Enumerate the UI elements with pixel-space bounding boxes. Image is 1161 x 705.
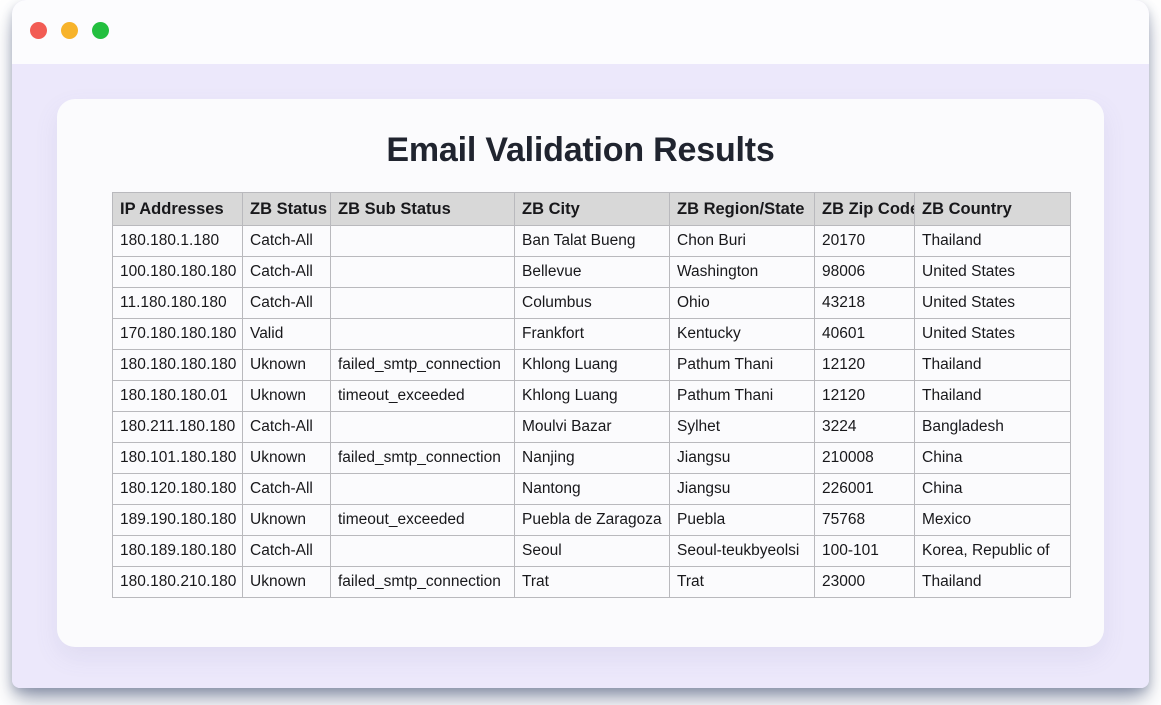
minimize-window-icon[interactable] <box>61 22 78 39</box>
table-row: 180.211.180.180Catch-AllMoulvi BazarSylh… <box>113 412 1071 443</box>
table-row: 180.180.180.01Uknowntimeout_exceededKhlo… <box>113 381 1071 412</box>
cell-ip-address: 180.180.210.180 <box>113 567 243 598</box>
cell-zb-region-state: Kentucky <box>670 319 815 350</box>
cell-zb-zip-code: 43218 <box>815 288 915 319</box>
cell-zb-region-state: Chon Buri <box>670 226 815 257</box>
cell-zb-sub-status <box>331 474 515 505</box>
cell-ip-address: 170.180.180.180 <box>113 319 243 350</box>
cell-zb-zip-code: 210008 <box>815 443 915 474</box>
table-row: 180.180.180.180Uknownfailed_smtp_connect… <box>113 350 1071 381</box>
cell-zb-zip-code: 20170 <box>815 226 915 257</box>
cell-zb-sub-status: timeout_exceeded <box>331 505 515 536</box>
cell-zb-city: Nantong <box>515 474 670 505</box>
column-header-zb-country: ZB Country <box>915 193 1071 226</box>
cell-zb-country: United States <box>915 319 1071 350</box>
cell-zb-region-state: Sylhet <box>670 412 815 443</box>
table-row: 180.189.180.180Catch-AllSeoulSeoul-teukb… <box>113 536 1071 567</box>
cell-zb-zip-code: 98006 <box>815 257 915 288</box>
cell-zb-city: Puebla de Zaragoza <box>515 505 670 536</box>
cell-zb-region-state: Jiangsu <box>670 443 815 474</box>
results-card: Email Validation Results IP Addresses ZB… <box>57 99 1104 647</box>
column-header-zb-sub-status: ZB Sub Status <box>331 193 515 226</box>
cell-zb-country: United States <box>915 257 1071 288</box>
cell-zb-city: Khlong Luang <box>515 350 670 381</box>
cell-zb-status: Catch-All <box>243 257 331 288</box>
cell-ip-address: 180.211.180.180 <box>113 412 243 443</box>
cell-zb-country: Korea, Republic of <box>915 536 1071 567</box>
cell-zb-region-state: Pathum Thani <box>670 381 815 412</box>
cell-zb-city: Nanjing <box>515 443 670 474</box>
column-header-zb-status: ZB Status <box>243 193 331 226</box>
cell-zb-city: Bellevue <box>515 257 670 288</box>
table-row: 180.101.180.180Uknownfailed_smtp_connect… <box>113 443 1071 474</box>
table-row: 180.120.180.180Catch-AllNantongJiangsu22… <box>113 474 1071 505</box>
cell-zb-sub-status <box>331 412 515 443</box>
cell-zb-zip-code: 75768 <box>815 505 915 536</box>
cell-zb-country: Thailand <box>915 381 1071 412</box>
cell-zb-city: Moulvi Bazar <box>515 412 670 443</box>
cell-zb-status: Catch-All <box>243 474 331 505</box>
cell-zb-status: Uknown <box>243 443 331 474</box>
cell-zb-zip-code: 226001 <box>815 474 915 505</box>
cell-zb-country: China <box>915 443 1071 474</box>
cell-zb-sub-status <box>331 319 515 350</box>
cell-zb-city: Frankfort <box>515 319 670 350</box>
cell-ip-address: 189.190.180.180 <box>113 505 243 536</box>
cell-zb-status: Uknown <box>243 350 331 381</box>
cell-ip-address: 180.180.180.180 <box>113 350 243 381</box>
cell-zb-sub-status: timeout_exceeded <box>331 381 515 412</box>
table-row: 170.180.180.180ValidFrankfortKentucky406… <box>113 319 1071 350</box>
table-row: 180.180.210.180Uknownfailed_smtp_connect… <box>113 567 1071 598</box>
cell-zb-zip-code: 12120 <box>815 381 915 412</box>
cell-zb-sub-status <box>331 536 515 567</box>
cell-ip-address: 11.180.180.180 <box>113 288 243 319</box>
table-row: 189.190.180.180Uknowntimeout_exceededPue… <box>113 505 1071 536</box>
column-header-ip-addresses: IP Addresses <box>113 193 243 226</box>
cell-zb-country: Thailand <box>915 567 1071 598</box>
close-window-icon[interactable] <box>30 22 47 39</box>
cell-zb-city: Trat <box>515 567 670 598</box>
cell-zb-region-state: Pathum Thani <box>670 350 815 381</box>
cell-zb-sub-status <box>331 257 515 288</box>
browser-window: Email Validation Results IP Addresses ZB… <box>12 0 1149 688</box>
cell-zb-region-state: Seoul-teukbyeolsi <box>670 536 815 567</box>
cell-zb-status: Catch-All <box>243 536 331 567</box>
screenshot-scene: Email Validation Results IP Addresses ZB… <box>0 0 1161 705</box>
cell-zb-zip-code: 40601 <box>815 319 915 350</box>
cell-zb-region-state: Washington <box>670 257 815 288</box>
cell-zb-city: Ban Talat Bueng <box>515 226 670 257</box>
cell-zb-zip-code: 23000 <box>815 567 915 598</box>
cell-zb-sub-status: failed_smtp_connection <box>331 443 515 474</box>
table-head: IP Addresses ZB Status ZB Sub Status ZB … <box>113 193 1071 226</box>
cell-ip-address: 180.180.180.01 <box>113 381 243 412</box>
cell-zb-country: Thailand <box>915 226 1071 257</box>
cell-zb-status: Uknown <box>243 505 331 536</box>
cell-zb-status: Valid <box>243 319 331 350</box>
cell-zb-country: Bangladesh <box>915 412 1071 443</box>
cell-zb-city: Seoul <box>515 536 670 567</box>
table-header-row: IP Addresses ZB Status ZB Sub Status ZB … <box>113 193 1071 226</box>
table-row: 180.180.1.180Catch-AllBan Talat BuengCho… <box>113 226 1071 257</box>
cell-zb-region-state: Puebla <box>670 505 815 536</box>
cell-zb-country: Thailand <box>915 350 1071 381</box>
column-header-zb-zip-code: ZB Zip Code <box>815 193 915 226</box>
cell-zb-city: Columbus <box>515 288 670 319</box>
browser-viewport: Email Validation Results IP Addresses ZB… <box>12 64 1149 688</box>
cell-ip-address: 100.180.180.180 <box>113 257 243 288</box>
cell-zb-status: Catch-All <box>243 412 331 443</box>
column-header-zb-city: ZB City <box>515 193 670 226</box>
email-validation-results-table: IP Addresses ZB Status ZB Sub Status ZB … <box>112 192 1071 598</box>
cell-zb-country: China <box>915 474 1071 505</box>
page-title: Email Validation Results <box>57 99 1104 170</box>
cell-zb-status: Uknown <box>243 567 331 598</box>
cell-zb-zip-code: 100-101 <box>815 536 915 567</box>
cell-zb-zip-code: 3224 <box>815 412 915 443</box>
table-body: 180.180.1.180Catch-AllBan Talat BuengCho… <box>113 226 1071 598</box>
cell-zb-status: Catch-All <box>243 288 331 319</box>
cell-zb-country: Mexico <box>915 505 1071 536</box>
maximize-window-icon[interactable] <box>92 22 109 39</box>
results-table-container: IP Addresses ZB Status ZB Sub Status ZB … <box>112 192 1070 598</box>
column-header-zb-region-state: ZB Region/State <box>670 193 815 226</box>
cell-zb-zip-code: 12120 <box>815 350 915 381</box>
cell-ip-address: 180.101.180.180 <box>113 443 243 474</box>
cell-zb-status: Uknown <box>243 381 331 412</box>
cell-zb-city: Khlong Luang <box>515 381 670 412</box>
cell-ip-address: 180.189.180.180 <box>113 536 243 567</box>
cell-zb-region-state: Trat <box>670 567 815 598</box>
table-row: 11.180.180.180Catch-AllColumbusOhio43218… <box>113 288 1071 319</box>
cell-ip-address: 180.180.1.180 <box>113 226 243 257</box>
cell-zb-country: United States <box>915 288 1071 319</box>
window-traffic-lights <box>30 22 109 39</box>
cell-zb-sub-status <box>331 226 515 257</box>
cell-zb-region-state: Jiangsu <box>670 474 815 505</box>
cell-zb-status: Catch-All <box>243 226 331 257</box>
cell-zb-sub-status <box>331 288 515 319</box>
cell-zb-region-state: Ohio <box>670 288 815 319</box>
cell-ip-address: 180.120.180.180 <box>113 474 243 505</box>
cell-zb-sub-status: failed_smtp_connection <box>331 567 515 598</box>
browser-title-bar <box>12 0 1149 64</box>
table-row: 100.180.180.180Catch-AllBellevueWashingt… <box>113 257 1071 288</box>
cell-zb-sub-status: failed_smtp_connection <box>331 350 515 381</box>
